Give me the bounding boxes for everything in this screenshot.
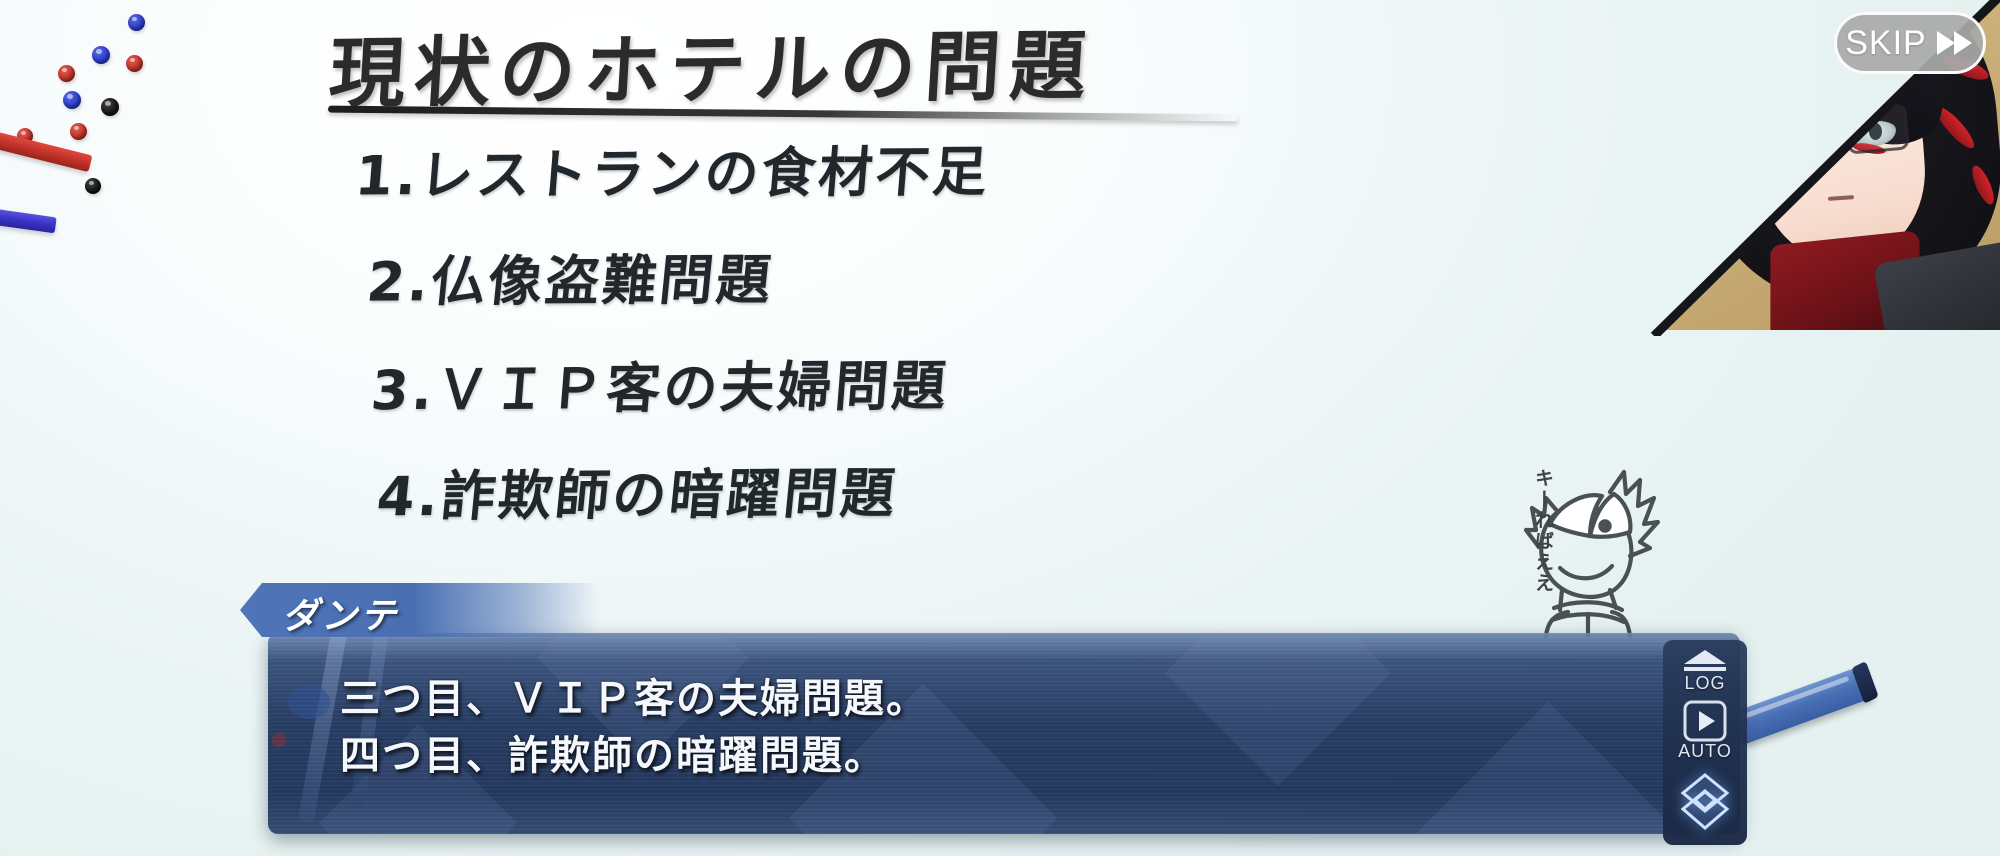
log-label: LOG bbox=[1684, 673, 1725, 694]
auto-button[interactable]: AUTO bbox=[1678, 700, 1732, 762]
skip-label: SKIP bbox=[1845, 24, 1926, 63]
glasses-right-lens bbox=[1844, 103, 1910, 154]
eye-left bbox=[1783, 120, 1829, 154]
dialogue-line: 三つ目、ＶＩＰ客の夫婦問題。 bbox=[340, 671, 928, 728]
ink-dot bbox=[92, 46, 110, 64]
ink-dot bbox=[58, 65, 75, 82]
list-item: 1.レストランの食材不足 bbox=[353, 125, 1360, 211]
page-title: 現状のホテルの問題 bbox=[326, 4, 1098, 122]
list-item: 4.詐欺師の暗躍問題 bbox=[374, 446, 1360, 532]
list-item: 3.ＶＩＰ客の夫婦問題 bbox=[369, 338, 1360, 426]
skip-button[interactable]: SKIP bbox=[1834, 12, 1986, 74]
speaker-name-plate: ダンテ bbox=[240, 583, 600, 637]
hair-strand-red bbox=[1743, 28, 1773, 65]
eye-marking-red bbox=[1779, 147, 1812, 162]
diamond-motif bbox=[1165, 633, 1391, 786]
dialogue-line: 四つ目、詐欺師の暗躍問題。 bbox=[340, 728, 928, 785]
ink-dot bbox=[70, 123, 87, 140]
blue-pen-decoration bbox=[1731, 665, 1874, 745]
problem-list: 1.レストランの食材不足 2.仏像盗難問題 3.ＶＩＰ客の夫婦問題 4.詐欺師の… bbox=[356, 128, 1356, 556]
glasses-left-lens bbox=[1774, 109, 1840, 160]
ink-dot bbox=[85, 178, 101, 194]
pen-blob-decoration bbox=[272, 733, 286, 747]
diamond-motif bbox=[1407, 702, 1690, 834]
list-item: 2.仏像盗難問題 bbox=[364, 232, 1360, 316]
speaker-name: ダンテ bbox=[282, 587, 399, 639]
dialogue-box[interactable]: 三つ目、ＶＩＰ客の夫婦問題。 四つ目、詐欺師の暗躍問題。 bbox=[268, 633, 1740, 834]
log-button[interactable]: LOG bbox=[1682, 648, 1728, 694]
pupil-left bbox=[1801, 129, 1814, 146]
play-icon bbox=[1683, 700, 1727, 742]
control-stack: LOG AUTO bbox=[1663, 640, 1747, 845]
diamond-advance-icon[interactable] bbox=[1677, 772, 1733, 832]
pen-decoration bbox=[268, 633, 295, 812]
dialogue-text: 三つ目、ＶＩＰ客の夫婦問題。 四つ目、詐欺師の暗躍問題。 bbox=[340, 671, 928, 785]
ink-dot bbox=[128, 14, 145, 31]
ink-dot bbox=[63, 91, 81, 109]
ink-dot bbox=[101, 98, 119, 116]
pen-blob-decoration bbox=[288, 685, 330, 719]
blue-marker bbox=[0, 207, 57, 234]
game-screen: 現状のホテルの問題 1.レストランの食材不足 2.仏像盗難問題 3.ＶＩＰ客の夫… bbox=[0, 0, 2000, 856]
doodle-caption: キーればええ bbox=[1523, 468, 1557, 594]
glasses-bridge bbox=[1836, 125, 1850, 129]
ink-dot bbox=[126, 55, 143, 72]
log-up-arrow-icon bbox=[1682, 648, 1728, 674]
fast-forward-icon bbox=[1935, 28, 1975, 58]
auto-label: AUTO bbox=[1678, 741, 1732, 762]
